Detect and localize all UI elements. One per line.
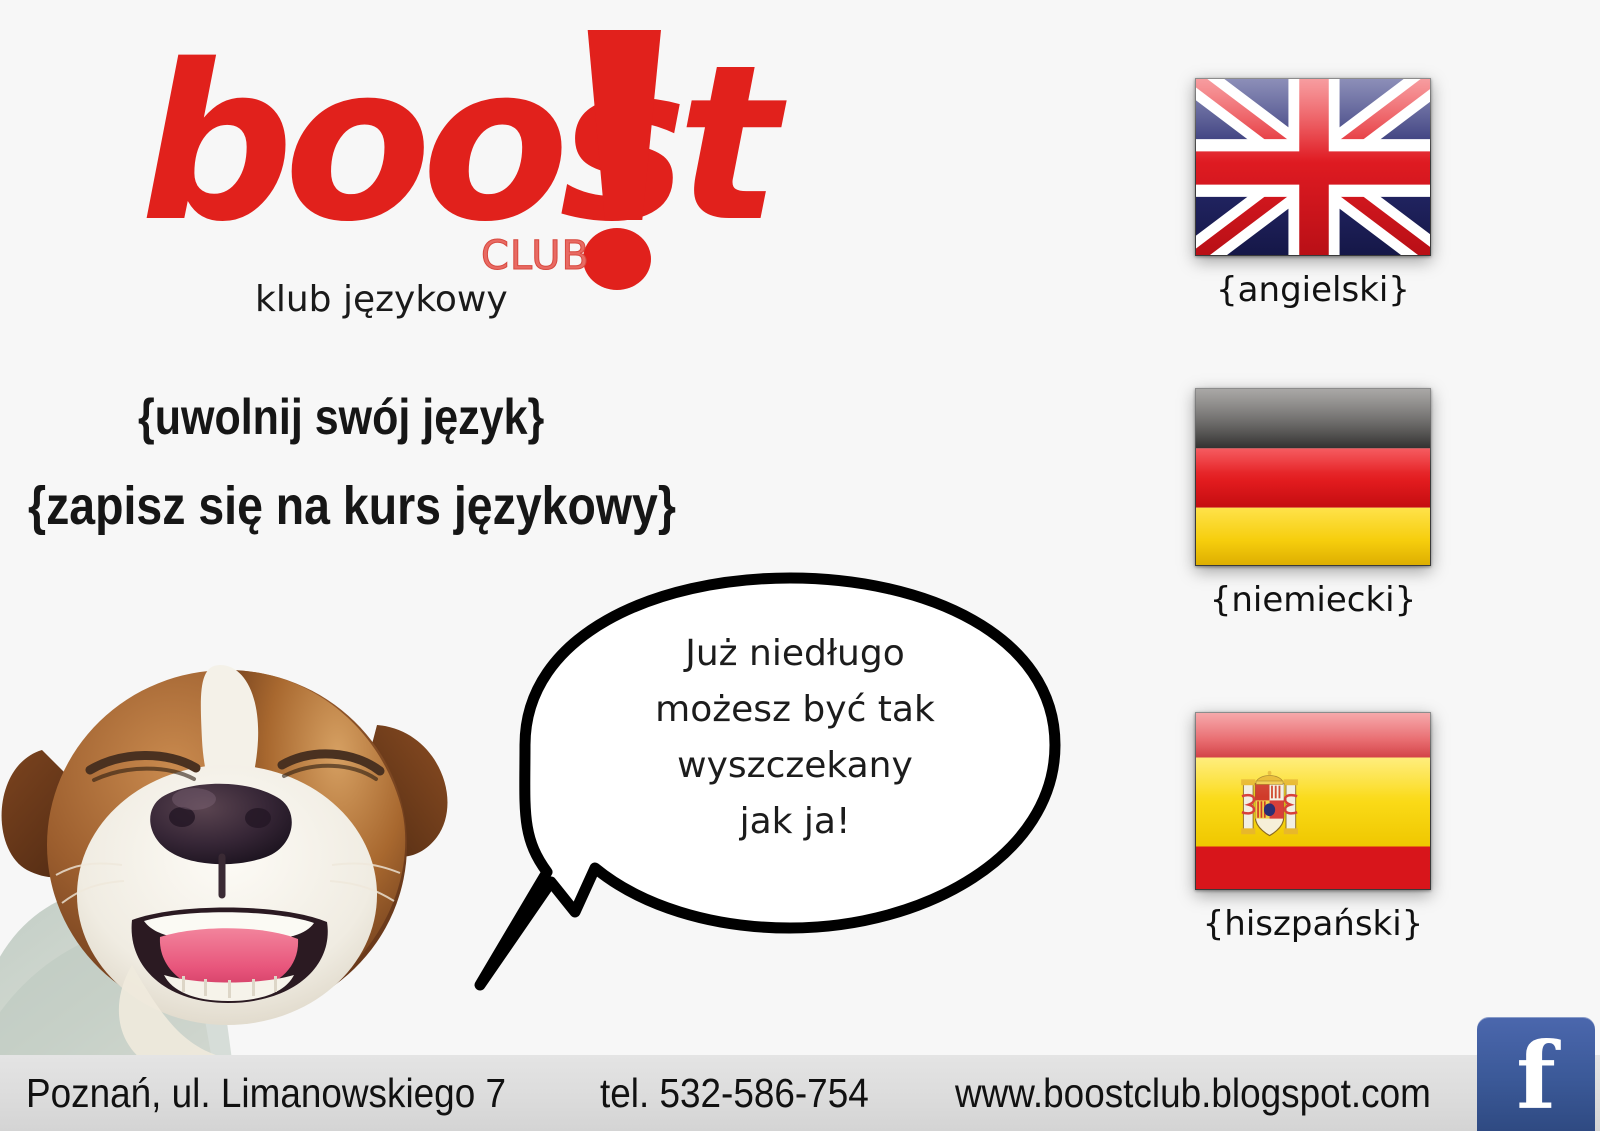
language-option-spanish[interactable]: {hiszpański} — [1163, 712, 1463, 944]
footer-content: Poznań, ul. Limanowskiego 7 tel. 532-586… — [0, 1055, 1600, 1131]
brand-subtitle: klub językowy — [255, 279, 508, 320]
facebook-icon[interactable]: f — [1477, 1017, 1595, 1131]
language-option-english[interactable]: {angielski} — [1163, 78, 1463, 310]
flag-label-english: {angielski} — [1163, 270, 1463, 310]
brand-logo: boost CLUB klub językowy — [140, 24, 700, 314]
bubble-line-2: możesz być tak — [560, 682, 1030, 738]
speech-bubble-text: Już niedługo możesz być tak wyszczekany … — [560, 626, 1030, 850]
exclamation-dot — [583, 228, 651, 290]
dog-photo — [0, 565, 492, 1060]
poster-canvas: boost CLUB klub językowy {uwolnij swój j… — [0, 0, 1600, 1131]
bubble-line-1: Już niedługo — [560, 626, 1030, 682]
germany-flag-svg — [1196, 389, 1431, 566]
flag-label-spanish: {hiszpański} — [1163, 904, 1463, 944]
exclamation-bar — [583, 30, 661, 220]
flag-spain-icon[interactable] — [1195, 712, 1431, 890]
flag-label-german: {niemiecki} — [1163, 580, 1463, 620]
footer-phone: tel. 532-586-754 — [600, 1070, 869, 1117]
footer-address: Poznań, ul. Limanowskiego 7 — [26, 1070, 506, 1117]
dog-illustration — [0, 565, 492, 1060]
facebook-glyph: f — [1516, 1030, 1556, 1122]
tagline-primary: {uwolnij swój język} — [138, 388, 544, 446]
bubble-line-4: jak ja! — [560, 794, 1030, 850]
spain-coat-of-arms — [1241, 771, 1298, 836]
spain-flag-svg — [1196, 713, 1431, 890]
uk-flag-svg — [1196, 79, 1431, 256]
flag-germany-icon[interactable] — [1195, 388, 1431, 566]
language-option-german[interactable]: {niemiecki} — [1163, 388, 1463, 620]
bubble-line-3: wyszczekany — [560, 738, 1030, 794]
tagline-secondary: {zapisz się na kurs językowy} — [28, 475, 676, 537]
exclamation-mark-icon — [565, 30, 685, 260]
brand-club-text: CLUB — [481, 233, 590, 279]
footer-website[interactable]: www.boostclub.blogspot.com — [955, 1070, 1431, 1117]
flag-uk-icon[interactable] — [1195, 78, 1431, 256]
